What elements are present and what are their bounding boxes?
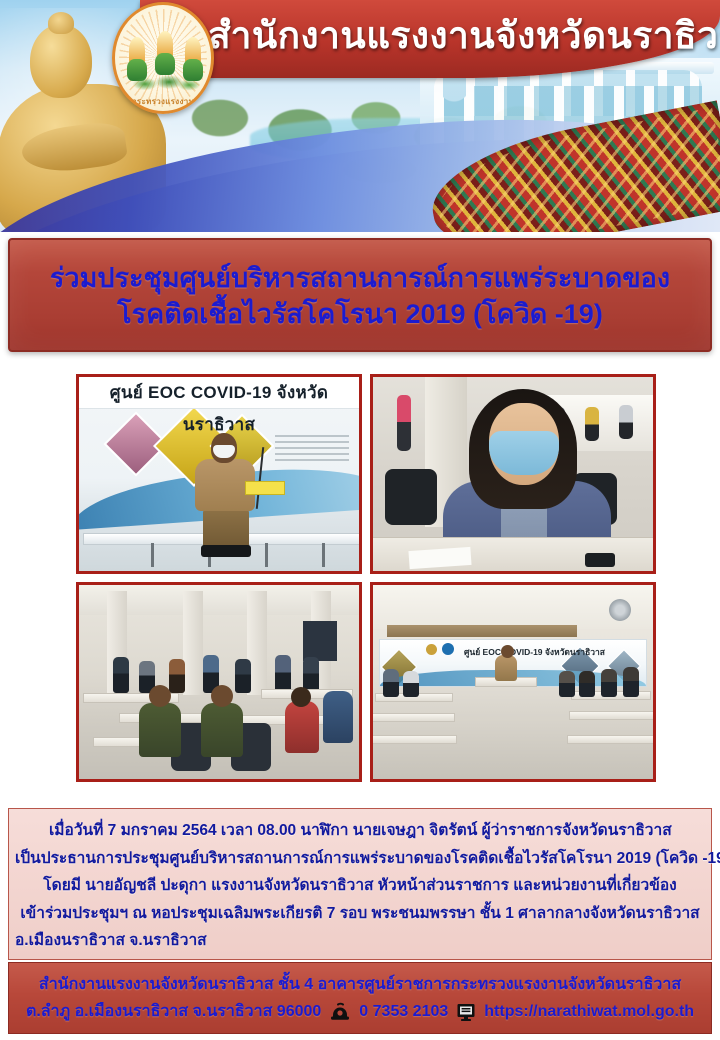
body-line-5: อ.เมืองนราธิวาส จ.นราธิวาส bbox=[15, 927, 705, 955]
photo2-mobile-phone bbox=[585, 553, 615, 567]
photo4-attendee-left-2 bbox=[403, 671, 419, 697]
photo-grid: ศูนย์ EOC COVID-19 จังหวัดนราธิวาส bbox=[76, 374, 656, 786]
photo3-display-screen bbox=[303, 621, 337, 661]
photo3-soldier-2-head bbox=[211, 685, 233, 707]
photo-meeting-attendees bbox=[76, 582, 362, 782]
organization-name: สำนักงานแรงงานจังหวัดนราธิวาส bbox=[208, 6, 708, 65]
footer-contact-bar: สำนักงานแรงงานจังหวัดนราธิวาส ชั้น 4 อาค… bbox=[8, 962, 712, 1034]
photo3-soldier-1-head bbox=[149, 685, 171, 707]
photo3-soldier-2 bbox=[201, 703, 243, 757]
body-line-4: เข้าร่วมประชุมฯ ณ หอประชุมเฉลิมพระเกียรต… bbox=[15, 900, 705, 928]
photo4-banner-logo-gold bbox=[426, 644, 437, 655]
photo3-attendee-3 bbox=[169, 659, 185, 693]
photo3-attendee-blue bbox=[323, 691, 353, 743]
emblem-deva-center bbox=[153, 31, 177, 75]
photo3-attendee-red-head bbox=[291, 687, 311, 707]
photo4-attendee-right-3 bbox=[579, 671, 595, 697]
photo4-ceiling-fan bbox=[609, 599, 631, 621]
buddha-ushnisha bbox=[48, 12, 74, 34]
photo4-right-table-2 bbox=[569, 711, 656, 720]
footer-address-line-2: ต.ลำภู อ.เมืองนราธิวาส จ.นราธิวาส 96000 bbox=[26, 999, 321, 1024]
photo-governor-briefing: ศูนย์ EOC COVID-19 จังหวัดนราธิวาส bbox=[76, 374, 362, 574]
photo-meeting-hall-wide: ศูนย์ EOC COVID-19 จังหวัดนราธิวาส bbox=[370, 582, 656, 782]
photo4-speaker-head bbox=[501, 645, 514, 658]
photo2-face-mask bbox=[489, 431, 559, 475]
photo-official-woman bbox=[370, 374, 656, 574]
photo4-right-table-3 bbox=[567, 735, 656, 744]
photo4-left-table-3 bbox=[370, 735, 457, 744]
photo2-background-person-3 bbox=[585, 407, 599, 441]
body-line-2: เป็นประธานการประชุมศูนย์บริหารสถานการณ์ก… bbox=[15, 845, 705, 873]
photo4-speaker-body bbox=[495, 655, 517, 681]
photo1-nameplate bbox=[245, 481, 285, 495]
photo2-background-person-1 bbox=[397, 395, 411, 451]
title-line-1: ร่วมประชุมศูนย์บริหารสถานการณ์การแพร่ระบ… bbox=[50, 261, 670, 297]
photo2-chair-left bbox=[385, 469, 437, 525]
buddha-head bbox=[30, 24, 92, 98]
title-banner: ร่วมประชุมศูนย์บริหารสถานการณ์การแพร่ระบ… bbox=[8, 238, 712, 352]
photo4-attendee-left-1 bbox=[383, 669, 399, 697]
footer-contact-line: ต.ลำภู อ.เมืองนราธิวาส จ.นราธิวาส 96000 … bbox=[26, 999, 694, 1024]
photo1-officer-shoes bbox=[201, 545, 251, 557]
footer-website-url[interactable]: https://narathiwat.mol.go.th bbox=[484, 1003, 694, 1021]
body-line-3: โดยมี นายอัญชลี ปะดุกา แรงงานจังหวัดนราธ… bbox=[15, 872, 705, 900]
photo4-attendee-right-1 bbox=[623, 667, 639, 697]
footer-address-line-1: สำนักงานแรงงานจังหวัดนราธิวาส ชั้น 4 อาค… bbox=[39, 972, 681, 997]
monitor-icon bbox=[456, 1002, 476, 1022]
emblem-cloud bbox=[129, 75, 201, 91]
announcement-body: เมื่อวันที่ 7 มกราคม 2564 เวลา 08.00 นาฬ… bbox=[8, 808, 712, 960]
title-line-2: โรคติดเชื้อไวรัสโคโรนา 2019 (โควิด -19) bbox=[117, 297, 603, 333]
telephone-icon bbox=[329, 1002, 351, 1022]
photo1-eoc-banner: ศูนย์ EOC COVID-19 จังหวัดนราธิวาส bbox=[79, 377, 359, 409]
photo3-attendee-5 bbox=[235, 659, 251, 693]
photo4-left-table-2 bbox=[370, 713, 455, 722]
emblem-ring-text: กระทรวงแรงงาน bbox=[115, 95, 211, 108]
photo2-background-person-4 bbox=[619, 405, 633, 439]
photo3-soldier-1 bbox=[139, 703, 181, 757]
ministry-of-labour-emblem-icon: กระทรวงแรงงาน bbox=[112, 2, 214, 114]
photo1-eoc-banner-text: ศูนย์ EOC COVID-19 จังหวัดนราธิวาส bbox=[79, 377, 359, 441]
body-line-1: เมื่อวันที่ 7 มกราคม 2564 เวลา 08.00 นาฬ… bbox=[15, 817, 705, 845]
footer-phone-number: 0 7353 2103 bbox=[359, 1003, 448, 1021]
photo3-column-2 bbox=[183, 591, 203, 695]
photo3-attendee-6 bbox=[275, 655, 291, 693]
header-banner: สำนักงานแรงงานจังหวัดนราธิวาส กระทรวงแรง… bbox=[0, 0, 720, 232]
photo4-banner-logo-blue bbox=[442, 643, 454, 655]
photo4-wall-band bbox=[387, 625, 577, 637]
photo4-floor bbox=[373, 719, 653, 779]
photo4-attendee-right-4 bbox=[559, 671, 575, 697]
photo4-attendee-right-2 bbox=[601, 669, 617, 697]
photo3-attendee-red bbox=[285, 701, 319, 753]
photo4-eoc-banner-text: ศูนย์ EOC COVID-19 จังหวัดนราธิวาส bbox=[464, 645, 605, 659]
photo3-attendee-1 bbox=[113, 657, 129, 693]
